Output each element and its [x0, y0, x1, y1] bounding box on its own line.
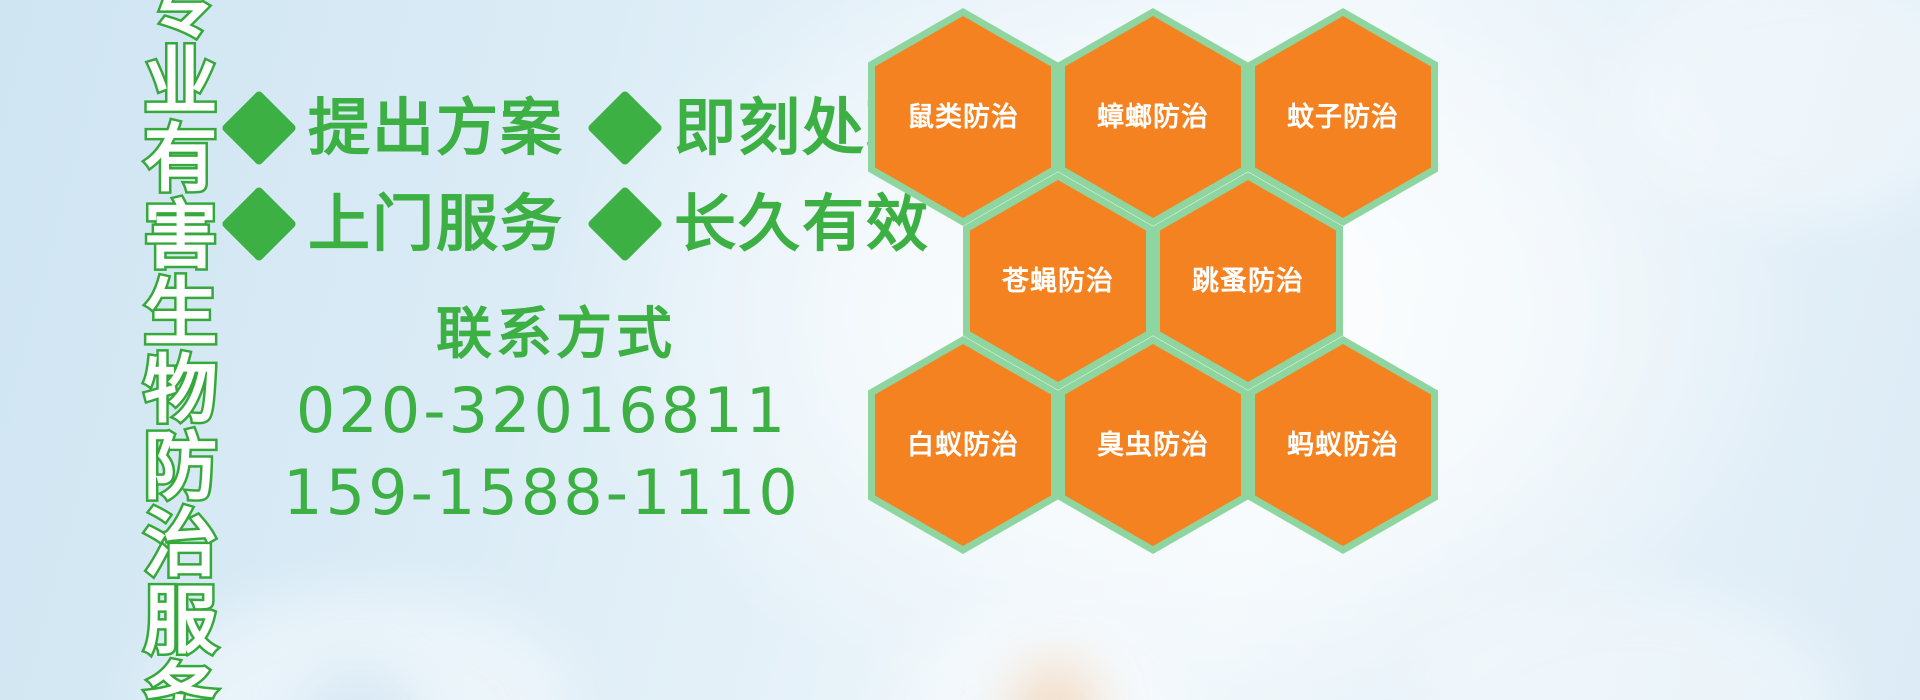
hex-inner: 蚂蚁防治 — [1255, 344, 1431, 546]
diamond-bullet-icon — [587, 186, 663, 262]
service-label: 蚂蚁防治 — [1287, 432, 1399, 459]
background-blur-blob — [1620, 0, 1920, 220]
hex-inner: 跳蚤防治 — [1160, 180, 1336, 382]
service-label: 蚊子防治 — [1287, 104, 1399, 131]
phone-number-mobile[interactable]: 159-1588-1110 — [232, 452, 852, 534]
contact-title: 联系方式 — [260, 300, 852, 370]
service-label: 蟑螂防治 — [1097, 104, 1209, 131]
diamond-bullet-icon — [221, 186, 297, 262]
service-label: 鼠类防治 — [907, 104, 1019, 131]
pest-control-banner: 专业有害生物防治服务 提出方案 即刻处理 上门服务 长久有效 联系方式 020-… — [0, 0, 1920, 700]
feature-row: 上门服务 长久有效 — [232, 176, 872, 272]
service-label: 臭虫防治 — [1097, 432, 1209, 459]
hex-inner: 臭虫防治 — [1065, 344, 1241, 546]
feature-label: 提出方案 — [308, 97, 564, 159]
feature-row: 提出方案 即刻处理 — [232, 80, 872, 176]
service-honeycomb: 鼠类防治 蟑螂防治 蚊子防治 苍蝇防治 跳蚤防治 白蚁防治 — [868, 0, 1468, 560]
contact-block: 联系方式 020-32016811 159-1588-1110 — [232, 300, 852, 534]
background-blur-blob — [300, 670, 420, 700]
diamond-bullet-icon — [221, 90, 297, 166]
background-blur-blob — [1420, 590, 1840, 700]
vertical-headline: 专业有害生物防治服务 — [100, 0, 210, 700]
background-blur-blob — [1010, 660, 1100, 700]
background-blur-blob — [880, 620, 1180, 700]
hex-inner: 蚊子防治 — [1255, 16, 1431, 218]
phone-number-landline[interactable]: 020-32016811 — [232, 370, 852, 452]
service-label: 跳蚤防治 — [1192, 268, 1304, 295]
hex-inner: 蟑螂防治 — [1065, 16, 1241, 218]
hex-inner: 苍蝇防治 — [970, 180, 1146, 382]
hex-inner: 白蚁防治 — [875, 344, 1051, 546]
service-label: 白蚁防治 — [907, 432, 1019, 459]
hex-inner: 鼠类防治 — [875, 16, 1051, 218]
feature-list: 提出方案 即刻处理 上门服务 长久有效 — [232, 80, 872, 272]
feature-label: 上门服务 — [308, 193, 564, 255]
service-label: 苍蝇防治 — [1002, 268, 1114, 295]
diamond-bullet-icon — [587, 90, 663, 166]
